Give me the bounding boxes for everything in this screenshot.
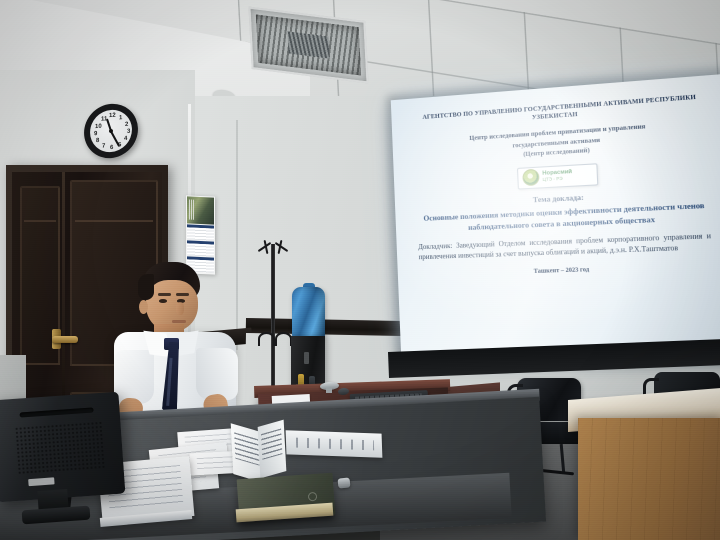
metal-tray-stem [326,388,332,393]
water-cooler-tap-icon[interactable] [304,352,309,364]
small-desk-object [338,477,351,488]
clock-numeral-4: 4 [124,136,127,142]
presentation-slide: АГЕНТСТВО ПО УПРАВЛЕНИЮ ГОСУДАРСТВЕННЫМИ… [391,73,720,358]
monitor-vent-slot [20,407,94,417]
clock-numeral-3: 3 [127,129,130,135]
logo-text: Норасмий ЦТЭ - РЭ [542,169,592,183]
slide-city-year: Ташкент – 2023 год [411,262,720,278]
monitor-label [28,477,54,486]
vent-louvers [256,14,361,75]
presenter-ear [139,300,148,314]
presenter-eye-left [159,299,167,303]
presenter-hair-side [138,274,154,300]
clock-numeral-6: 6 [110,145,113,151]
tent-card-right-face [258,420,287,479]
chair-leg-2 [560,444,566,474]
water-bottle [292,287,325,339]
calendar-photo [187,196,214,224]
wood-desk [578,418,720,540]
slide-logo: Норасмий ЦТЭ - РЭ [517,163,598,189]
door-handle-icon[interactable] [52,336,78,343]
coat-rack-hooks-top [256,238,290,256]
table-banner-paper [286,430,383,457]
clock-numeral-1: 1 [119,115,122,121]
slide-speaker-text: Заведующий Отделом исследования проблем … [418,231,711,260]
slide-speaker-block: Докладчик: Заведующий Отделом исследован… [410,231,720,263]
clock-numeral-9: 9 [94,131,97,137]
state-emblem-icon [522,169,539,186]
presenter-brow-left [158,293,171,296]
clock-numeral-8: 8 [96,138,99,144]
book-cover-emblem [308,492,318,502]
clock-face: 12 1 2 3 4 5 6 7 8 9 10 11 [90,108,132,153]
calendar-month-grid-2 [187,243,214,256]
clock-numeral-12: 12 [109,113,116,119]
calendar-month-grid-1 [187,227,214,240]
clock-numeral-10: 10 [95,124,102,130]
computer-monitor[interactable] [0,392,125,503]
slide-speaker-label: Докладчик: [418,242,452,251]
presenter-brow-right [176,293,189,296]
projection-screen[interactable]: АГЕНТСТВО ПО УПРАВЛЕНИЮ ГОСУДАРСТВЕННЫМИ… [391,73,720,358]
clock-numeral-2: 2 [125,122,128,128]
conference-room-photo: 12 1 2 3 4 5 6 7 8 9 10 11 [0,0,720,540]
coat-rack-hooks-mid [258,330,288,342]
clock-numeral-7: 7 [102,143,105,149]
tie-highlight [166,358,172,406]
presenter-mouth [172,320,186,323]
tent-card-text-lines [234,432,259,465]
presenter-nose [176,302,184,315]
vent-core [287,32,329,59]
wood-grain [578,418,720,540]
presenter-sleeve-left [114,350,154,404]
tent-card-text-lines-2 [261,428,282,459]
monitor-vent-grid [14,421,105,475]
coat-hook-icon-2 [275,332,292,346]
coat-hook-icon-1 [258,332,275,346]
presenter-sleeve-right [196,348,238,400]
